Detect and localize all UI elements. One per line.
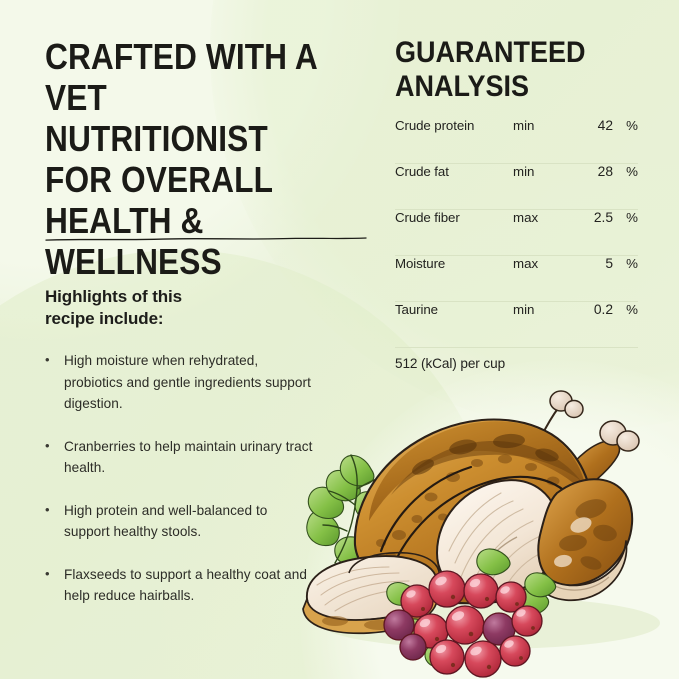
bullet-marker: • [45,349,50,371]
table-row: Crude protein min 42 % [395,118,638,164]
list-item-text: High moisture when rehydrated, probiotic… [64,353,311,411]
page-title: CRAFTED WITH A VET NUTRITIONIST FOR OVER… [45,36,335,282]
nutrient-name: Taurine [395,302,513,317]
bullet-marker: • [45,435,50,457]
nutrient-name: Crude fiber [395,210,513,225]
nutrient-value: 42 [575,118,613,133]
nutrient-value: 2.5 [575,210,613,225]
guaranteed-analysis-title: GUARANTEED ANALYSIS [395,36,620,104]
nutrient-limit: min [513,118,575,133]
nutrient-unit: % [613,118,638,133]
list-item: • High moisture when rehydrated, probiot… [44,350,314,415]
nutrient-value: 0.2 [575,302,613,317]
nutrient-value: 5 [575,256,613,271]
nutrient-name: Moisture [395,256,513,271]
guaranteed-analysis-table: Crude protein min 42 % Crude fat min 28 … [395,118,638,348]
nutrient-limit: min [513,302,575,317]
infographic-page: CRAFTED WITH A VET NUTRITIONIST FOR OVER… [0,0,679,679]
nutrient-name: Crude fat [395,164,513,179]
highlights-subheading: Highlights of this recipe include: [45,286,305,330]
table-row: Taurine min 0.2 % [395,302,638,348]
list-item: • Flaxseeds to support a healthy coat an… [44,564,314,607]
table-row: Crude fat min 28 % [395,164,638,210]
bullet-marker: • [45,499,50,521]
list-item-text: High protein and well-balanced to suppor… [64,503,267,540]
nutrient-limit: max [513,256,575,271]
highlights-list: • High moisture when rehydrated, probiot… [44,350,314,628]
nutrient-unit: % [613,210,638,225]
bullet-marker: • [45,563,50,585]
nutrient-name: Crude protein [395,118,513,133]
nutrient-unit: % [613,302,638,317]
roast-turkey-with-cranberries-illustration [295,385,679,679]
list-item: • Cranberries to help maintain urinary t… [44,436,314,479]
list-item-text: Flaxseeds to support a healthy coat and … [64,567,307,604]
calorie-statement: 512 (kCal) per cup [395,356,505,371]
table-row: Crude fiber max 2.5 % [395,210,638,256]
nutrient-unit: % [613,256,638,271]
nutrient-limit: max [513,210,575,225]
list-item-text: Cranberries to help maintain urinary tra… [64,439,312,476]
nutrient-value: 28 [575,164,613,179]
nutrient-unit: % [613,164,638,179]
hand-drawn-rule [45,236,367,241]
nutrient-limit: min [513,164,575,179]
list-item: • High protein and well-balanced to supp… [44,500,314,543]
table-row: Moisture max 5 % [395,256,638,302]
